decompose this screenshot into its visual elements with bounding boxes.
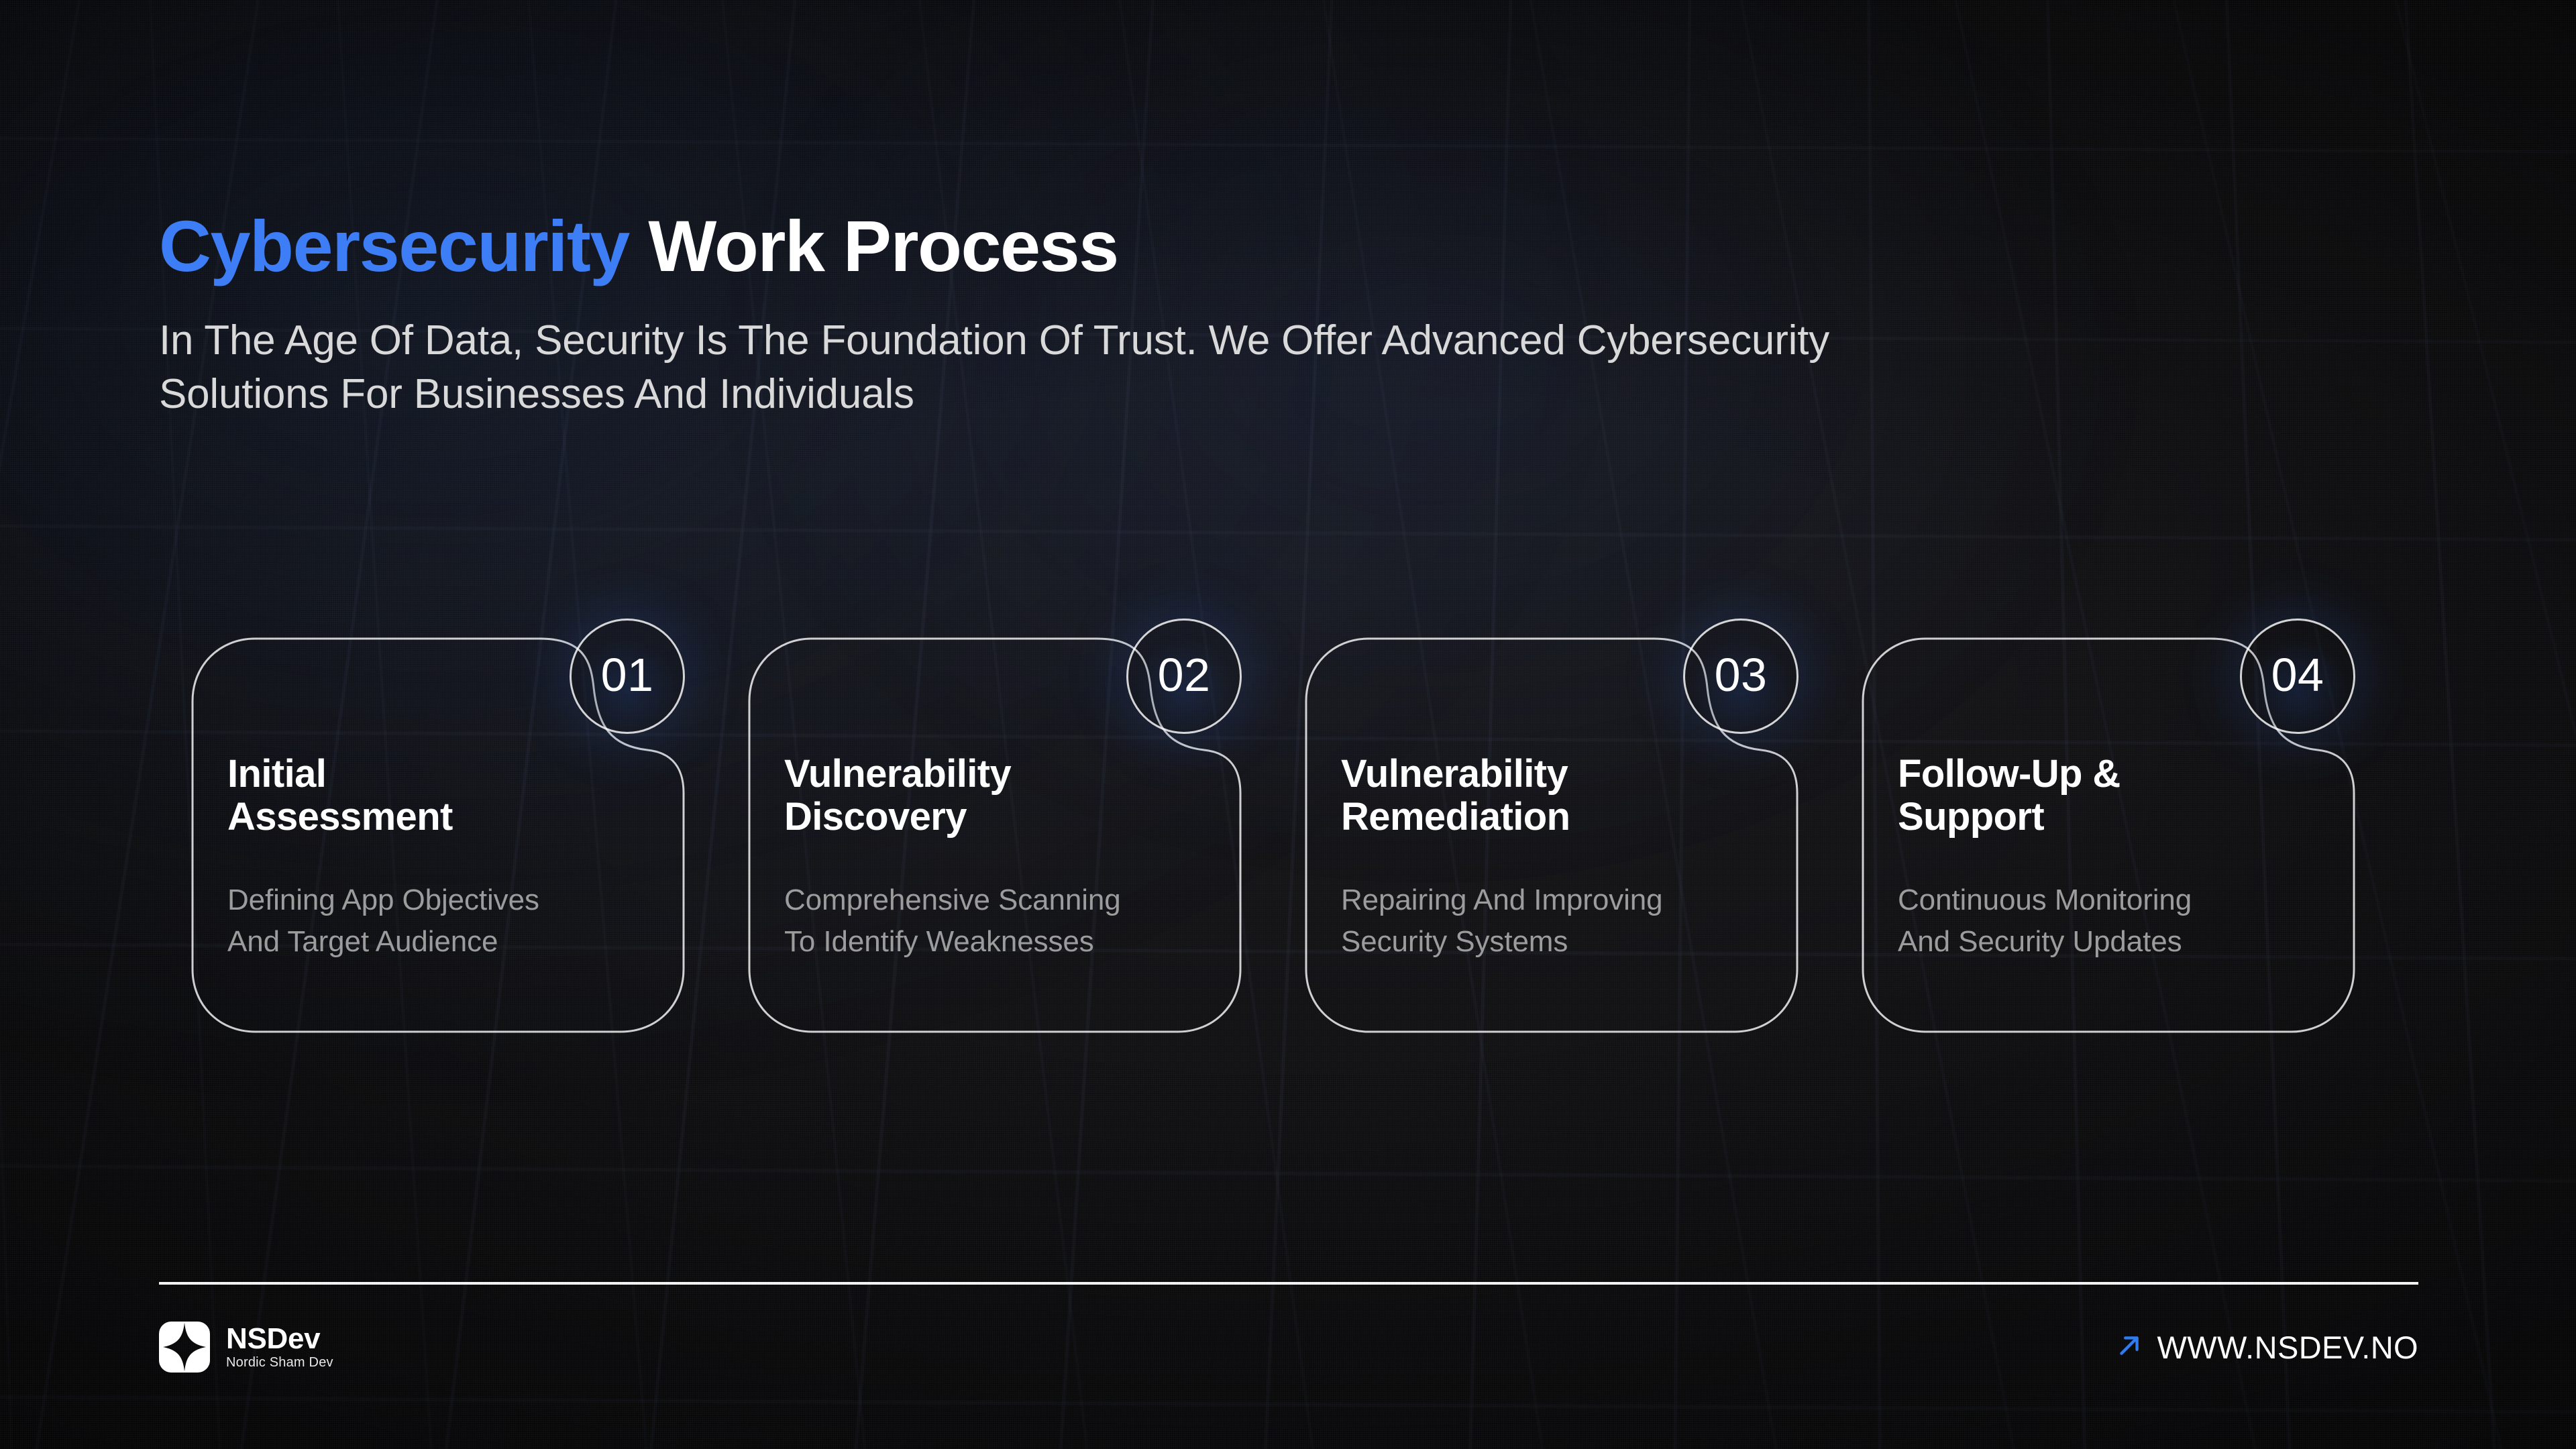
brand-lockup: NSDev Nordic Sham Dev — [159, 1322, 333, 1373]
website-link[interactable]: WWW.NSDEV.NO — [2115, 1332, 2418, 1363]
step-badge-01: 01 — [570, 619, 685, 734]
page-title-accent: Cybersecurity — [159, 205, 629, 286]
step-title: Initial Assessment — [227, 753, 630, 839]
brand-tagline: Nordic Sham Dev — [226, 1356, 333, 1370]
slide-stage: Cybersecurity Work Process In The Age Of… — [0, 0, 2576, 1449]
step-description: Repairing And Improving Security Systems — [1341, 879, 1743, 963]
brand-text-block: NSDev Nordic Sham Dev — [226, 1324, 333, 1370]
arrow-up-right-icon — [2115, 1332, 2143, 1360]
website-url-text: WWW.NSDEV.NO — [2157, 1332, 2418, 1363]
step-number: 03 — [1715, 651, 1768, 698]
process-step-card-01[interactable]: 01 Initial Assessment Defining App Objec… — [159, 637, 685, 1033]
card-content: Follow-Up & Support Continuous Monitorin… — [1898, 753, 2300, 963]
card-content: Vulnerability Discovery Comprehensive Sc… — [784, 753, 1187, 963]
step-title: Vulnerability Remediation — [1341, 753, 1743, 839]
slide-header: Cybersecurity Work Process In The Age Of… — [159, 208, 2239, 421]
process-step-card-02[interactable]: 02 Vulnerability Discovery Comprehensive… — [716, 637, 1242, 1033]
step-description: Defining App Objectives And Target Audie… — [227, 879, 630, 963]
step-badge-03: 03 — [1683, 619, 1799, 734]
card-content: Vulnerability Remediation Repairing And … — [1341, 753, 1743, 963]
page-title-rest: Work Process — [629, 205, 1118, 286]
process-step-card-03[interactable]: 03 Vulnerability Remediation Repairing A… — [1273, 637, 1799, 1033]
nsdev-star-logo-icon — [159, 1322, 210, 1373]
process-steps-row: 01 Initial Assessment Defining App Objec… — [159, 637, 2417, 1040]
slide-footer: NSDev Nordic Sham Dev WWW.NSDEV.NO — [159, 1310, 2418, 1384]
brand-name: NSDev — [226, 1324, 333, 1354]
process-step-card-04[interactable]: 04 Follow-Up & Support Continuous Monito… — [1829, 637, 2355, 1033]
page-title: Cybersecurity Work Process — [159, 208, 2239, 284]
step-title: Vulnerability Discovery — [784, 753, 1187, 839]
card-content: Initial Assessment Defining App Objectiv… — [227, 753, 630, 963]
step-badge-04: 04 — [2240, 619, 2355, 734]
step-number: 04 — [2271, 651, 2324, 698]
step-description: Comprehensive Scanning To Identify Weakn… — [784, 879, 1187, 963]
step-badge-02: 02 — [1126, 619, 1242, 734]
page-subtitle: In The Age Of Data, Security Is The Foun… — [159, 314, 1984, 421]
footer-divider — [159, 1282, 2418, 1285]
step-description: Continuous Monitoring And Security Updat… — [1898, 879, 2300, 963]
step-number: 02 — [1158, 651, 1211, 698]
step-title: Follow-Up & Support — [1898, 753, 2300, 839]
step-number: 01 — [601, 651, 654, 698]
